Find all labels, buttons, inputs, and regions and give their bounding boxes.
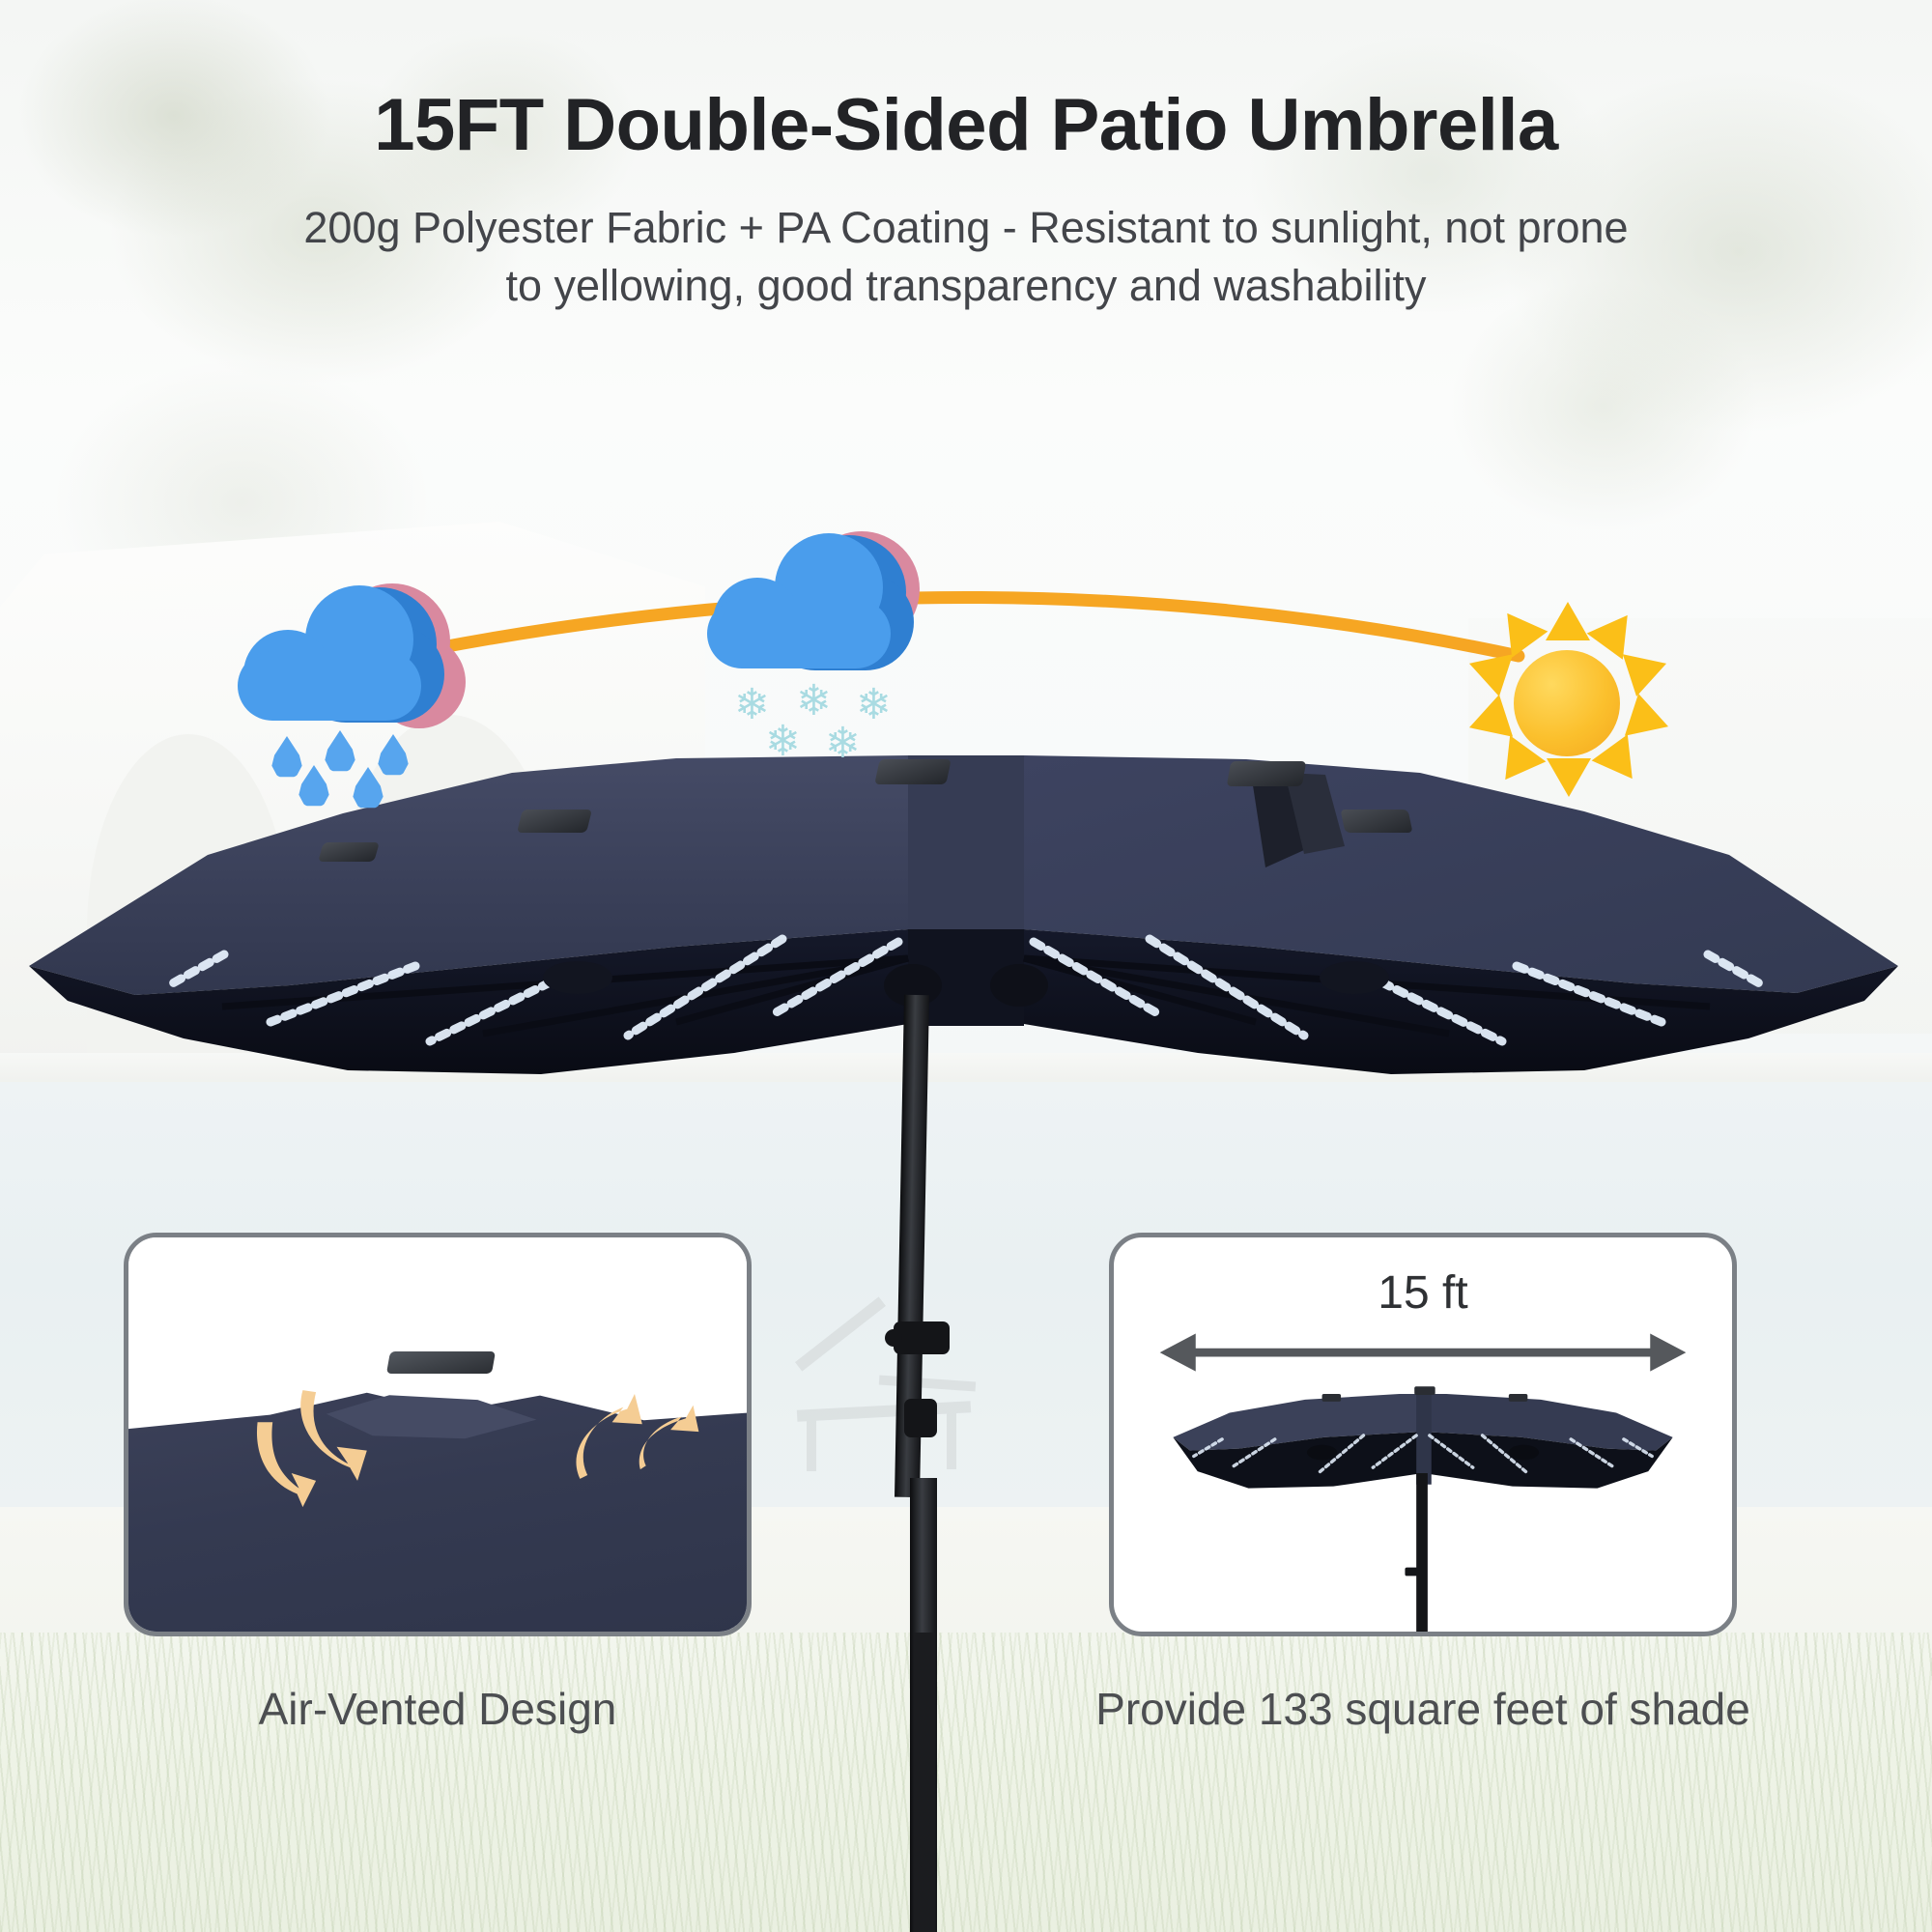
mini-solar-box: [1414, 1386, 1435, 1395]
caption-text: Air-Vented Design: [259, 1684, 617, 1734]
panel-shade-area: 15 ft: [1109, 1233, 1737, 1636]
panel-air-vent-caption: Air-Vented Design: [124, 1683, 752, 1735]
airflow-arrows: [128, 1237, 747, 1632]
solar-panel-box: [517, 810, 592, 833]
caption-text: Provide 133 square feet of shade: [1095, 1684, 1750, 1734]
airflow-arrow-out: [576, 1394, 698, 1479]
solar-panel-box: [318, 842, 380, 862]
mini-solar-box: [1322, 1394, 1342, 1402]
pole-front-segment: [914, 1633, 935, 1932]
mini-solar-box: [1509, 1394, 1528, 1402]
panel-air-vent: [124, 1233, 752, 1636]
rib-hub: [1320, 961, 1389, 994]
airflow-arrow-in: [257, 1390, 367, 1507]
mini-crank: [1405, 1568, 1420, 1577]
solar-panel-box: [1340, 810, 1412, 833]
rib-hub: [543, 961, 612, 994]
center-hub: [990, 964, 1048, 1007]
shade-diagram: [1114, 1237, 1732, 1632]
dimension-arrow: [1160, 1334, 1687, 1372]
page-subtitle: 200g Polyester Fabric + PA Coating - Res…: [0, 199, 1932, 315]
subtitle-line-1: 200g Polyester Fabric + PA Coating - Res…: [222, 199, 1710, 257]
header: 15FT Double-Sided Patio Umbrella 200g Po…: [0, 0, 1932, 315]
solar-panel-box: [874, 759, 952, 784]
panel-shade-area-caption: Provide 133 square feet of shade: [985, 1683, 1861, 1735]
pole-joint: [904, 1399, 937, 1437]
crank-knob: [885, 1329, 902, 1347]
subtitle-line-2: to yellowing, good transparency and wash…: [222, 257, 1710, 315]
page-title: 15FT Double-Sided Patio Umbrella: [0, 89, 1932, 162]
mini-pole: [1416, 1473, 1428, 1632]
solar-panel-box: [1227, 761, 1307, 786]
